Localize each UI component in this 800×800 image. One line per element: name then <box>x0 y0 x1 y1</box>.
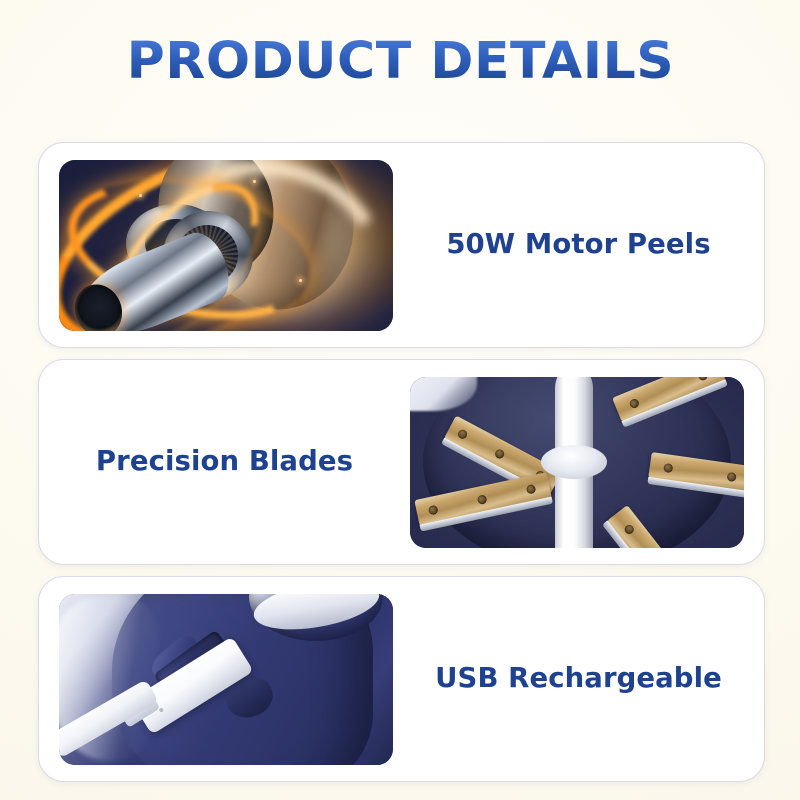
feature-card-motor[interactable]: 50W Motor Peels <box>38 142 765 348</box>
usb-illustration <box>59 594 393 765</box>
feature-label-blades: Precision Blades <box>96 446 353 478</box>
blades-image <box>410 377 744 548</box>
blades-illustration <box>410 377 744 548</box>
feature-card-list: 50W Motor Peels Precision Blades <box>38 142 765 793</box>
page-title-container: PRODUCT DETAILS <box>0 36 800 87</box>
page-title: PRODUCT DETAILS <box>126 36 674 87</box>
motor-image <box>59 160 393 331</box>
usb-label-cell: USB Rechargeable <box>393 577 764 781</box>
feature-label-motor: 50W Motor Peels <box>446 229 710 261</box>
motor-label-cell: 50W Motor Peels <box>393 143 764 347</box>
motor-illustration <box>59 160 393 331</box>
feature-label-usb: USB Rechargeable <box>435 663 722 695</box>
feature-card-usb[interactable]: USB Rechargeable <box>38 576 765 782</box>
shaft-base-collar <box>541 445 607 479</box>
spark-particle <box>253 180 256 183</box>
blades-label-cell: Precision Blades <box>39 360 410 564</box>
spark-particle <box>139 194 142 197</box>
usb-image <box>59 594 393 765</box>
feature-card-blades[interactable]: Precision Blades <box>38 359 765 565</box>
